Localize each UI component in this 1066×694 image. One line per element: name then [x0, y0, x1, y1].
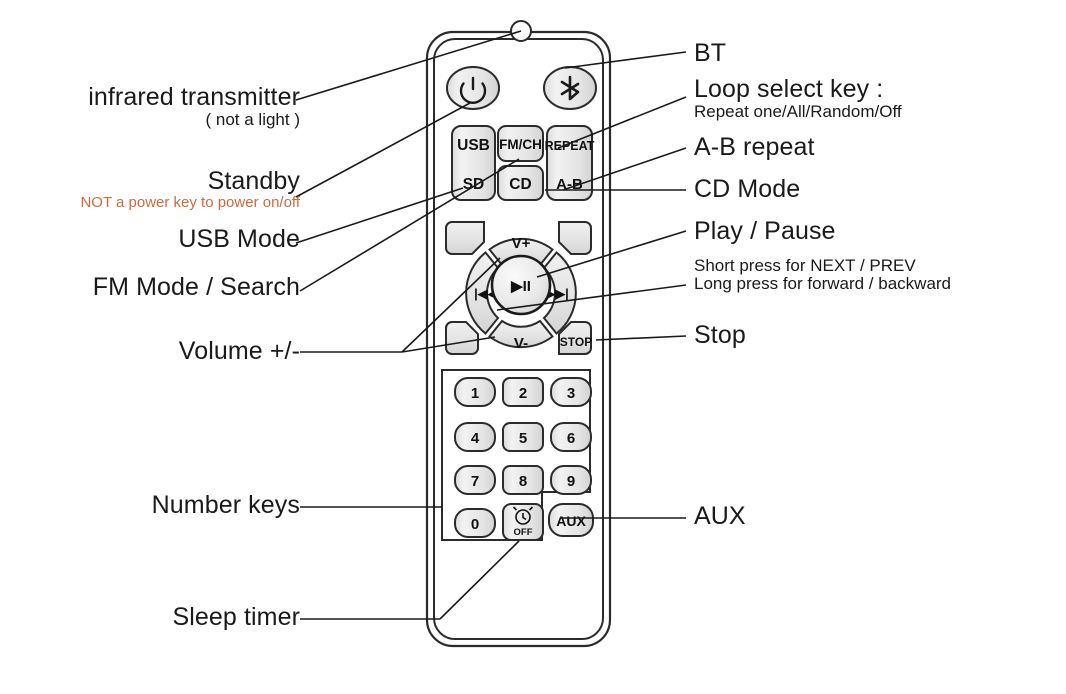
callout-cd-label: CD Mode [694, 176, 800, 203]
callout-sleep-label: Sleep timer [10, 604, 300, 631]
cd-key-label: CD [509, 176, 531, 193]
callout-number-keys: Number keys [10, 492, 300, 519]
play-pause-button[interactable]: ▶II [492, 256, 550, 314]
key-9[interactable]: 9 [551, 466, 591, 494]
key-6[interactable]: 6 [551, 423, 591, 451]
svg-text:1: 1 [471, 385, 479, 402]
callout-volume-label: Volume +/- [10, 338, 300, 365]
svg-text:2: 2 [519, 385, 527, 402]
cd-button[interactable]: CD [498, 166, 543, 200]
key-5[interactable]: 5 [503, 423, 543, 451]
callout-cd-mode: CD Mode [694, 176, 800, 203]
callout-volume: Volume +/- [10, 338, 300, 365]
svg-text:9: 9 [567, 473, 575, 490]
callout-press-behaviour: Short press for NEXT / PREV Long press f… [694, 257, 951, 294]
key-2[interactable]: 2 [503, 378, 543, 406]
key-3[interactable]: 3 [551, 378, 591, 406]
svg-text:4: 4 [471, 430, 480, 447]
svg-text:7: 7 [471, 473, 479, 490]
callout-usb-mode: USB Mode [10, 226, 300, 253]
callout-ab-label: A-B repeat [694, 134, 815, 161]
repeat-key-label: REPEAT [545, 139, 595, 153]
volume-up-label: V+ [512, 235, 531, 252]
callout-play-label: Play / Pause [694, 218, 836, 245]
callout-usb-label: USB Mode [10, 226, 300, 253]
callout-standby: Standby NOT a power key to power on/off [10, 168, 300, 211]
volume-down-label: V- [514, 335, 528, 352]
svg-text:0: 0 [471, 516, 479, 533]
key-4[interactable]: 4 [455, 423, 495, 451]
svg-text:6: 6 [567, 430, 575, 447]
callout-aux: AUX [694, 503, 746, 530]
key-0[interactable]: 0 [455, 509, 495, 537]
diagram-canvas: USB SD FM/CH CD REPEAT A-B [0, 0, 1066, 694]
fmch-button[interactable]: FM/CH [498, 126, 543, 161]
callout-aux-label: AUX [694, 503, 746, 530]
callout-bt: BT [694, 40, 726, 67]
sleep-timer-button[interactable]: OFF [503, 504, 543, 540]
svg-text:5: 5 [519, 430, 527, 447]
bluetooth-button[interactable] [544, 67, 596, 109]
play-pause-label: ▶II [510, 278, 531, 295]
callout-infrared-line1: infrared transmitter [10, 84, 300, 111]
callout-infrared-transmitter: infrared transmitter ( not a light ) [10, 84, 300, 129]
callout-stop: Stop [694, 322, 746, 349]
key-1[interactable]: 1 [455, 378, 495, 406]
aux-button[interactable]: AUX [549, 504, 593, 536]
standby-button[interactable] [447, 67, 499, 109]
callout-press-line1: Short press for NEXT / PREV [694, 257, 951, 275]
callout-press-line2: Long press for forward / backward [694, 275, 951, 293]
callout-infrared-line2: ( not a light ) [10, 111, 300, 129]
callout-loop-select: Loop select key : Repeat one/All/Random/… [694, 76, 902, 121]
sleep-timer-label: OFF [514, 527, 533, 538]
callout-sleep-timer: Sleep timer [10, 604, 300, 631]
callout-standby-warning: NOT a power key to power on/off [10, 195, 300, 211]
stop-key-label: STOP [560, 335, 592, 349]
key-7[interactable]: 7 [455, 466, 495, 494]
key-8[interactable]: 8 [503, 466, 543, 494]
usb-key-label: USB [457, 137, 490, 154]
callout-fm-mode: FM Mode / Search [10, 274, 300, 301]
svg-text:8: 8 [519, 473, 527, 490]
svg-text:3: 3 [567, 385, 575, 402]
callout-standby-line1: Standby [10, 168, 300, 195]
callout-stop-label: Stop [694, 322, 746, 349]
callout-bt-label: BT [694, 40, 726, 67]
callout-numbers-label: Number keys [10, 492, 300, 519]
callout-play-pause: Play / Pause [694, 218, 836, 245]
callout-ab-repeat: A-B repeat [694, 134, 815, 161]
aux-key-label: AUX [556, 513, 586, 529]
callout-loop-line1: Loop select key : [694, 76, 902, 103]
callout-loop-line2: Repeat one/All/Random/Off [694, 103, 902, 121]
callout-fm-label: FM Mode / Search [10, 274, 300, 301]
fmch-key-label: FM/CH [499, 137, 542, 152]
